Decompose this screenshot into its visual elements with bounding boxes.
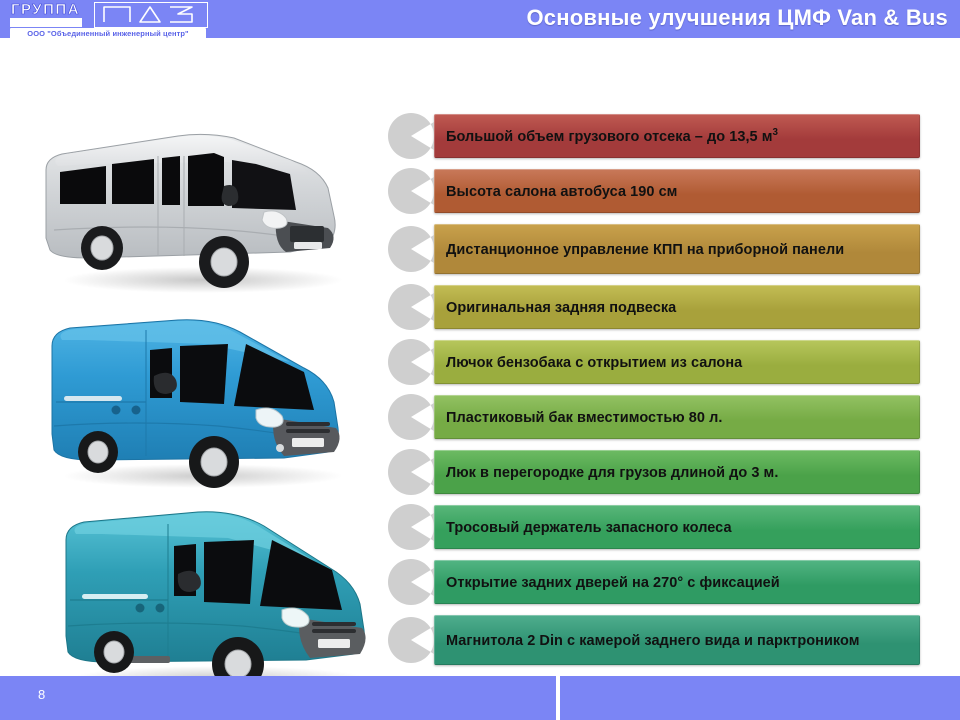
- list-item[interactable]: Лючок бензобака с открытием из салона: [388, 340, 928, 384]
- logo-underbar: [10, 18, 82, 27]
- list-item-label: Пластиковый бак вместимостью 80 л.: [434, 408, 732, 427]
- gaz-mark-icon: [100, 3, 200, 25]
- footer-band-left: [0, 676, 556, 720]
- vehicle-image-minibus-silver: [28, 110, 368, 300]
- list-item[interactable]: Дистанционное управление КПП на приборно…: [388, 224, 928, 274]
- vehicle-image-van-teal: [48, 496, 388, 696]
- improvements-list: Большой объем грузового отсека – до 13,5…: [388, 114, 928, 676]
- list-item-label: Магнитола 2 Din с камерой заднего вида и…: [434, 631, 870, 650]
- list-item[interactable]: Высота салона автобуса 190 см: [388, 169, 928, 213]
- pie-wedge-bullet-icon: [388, 168, 434, 214]
- page-title: Основные улучшения ЦМФ Van & Bus: [527, 5, 949, 31]
- logo-brand-text: ГРУППА: [11, 1, 80, 18]
- list-item[interactable]: Тросовый держатель запасного колеса: [388, 505, 928, 549]
- pie-wedge-bullet-icon: [388, 339, 434, 385]
- pie-wedge-bullet-icon: [388, 284, 434, 330]
- footer-band-right: [560, 676, 960, 720]
- bullet-bar: Открытие задних дверей на 270° с фиксаци…: [434, 560, 920, 604]
- list-item-label: Лючок бензобака с открытием из салона: [434, 353, 752, 372]
- list-item-label: Дистанционное управление КПП на приборно…: [434, 240, 854, 259]
- bullet-bar: Пластиковый бак вместимостью 80 л.: [434, 395, 920, 439]
- company-logo: ГРУППА ООО "Объединенный инженерный цент…: [4, 0, 212, 38]
- pie-wedge-bullet-icon: [388, 226, 434, 272]
- pie-wedge-bullet-icon: [388, 617, 434, 663]
- list-item-label: Люк в перегородке для грузов длиной до 3…: [434, 463, 788, 482]
- bullet-bar: Лючок бензобака с открытием из салона: [434, 340, 920, 384]
- bullet-bar: Высота салона автобуса 190 см: [434, 169, 920, 213]
- slide-body: Большой объем грузового отсека – до 13,5…: [0, 38, 960, 672]
- list-item-label: Высота салона автобуса 190 см: [434, 182, 687, 201]
- list-item[interactable]: Открытие задних дверей на 270° с фиксаци…: [388, 560, 928, 604]
- bullet-bar: Тросовый держатель запасного колеса: [434, 505, 920, 549]
- pie-wedge-bullet-icon: [388, 449, 434, 495]
- bullet-bar: Оригинальная задняя подвеска: [434, 285, 920, 329]
- pie-wedge-bullet-icon: [388, 504, 434, 550]
- bullet-bar: Большой объем грузового отсека – до 13,5…: [434, 114, 920, 158]
- pie-wedge-bullet-icon: [388, 394, 434, 440]
- list-item-label: Оригинальная задняя подвеска: [434, 298, 686, 317]
- list-item[interactable]: Большой объем грузового отсека – до 13,5…: [388, 114, 928, 158]
- list-item-label: Тросовый держатель запасного колеса: [434, 518, 742, 537]
- vehicle-image-van-blue: [28, 310, 368, 495]
- bullet-bar: Дистанционное управление КПП на приборно…: [434, 224, 920, 274]
- list-item[interactable]: Оригинальная задняя подвеска: [388, 285, 928, 329]
- bullet-bar: Магнитола 2 Din с камерой заднего вида и…: [434, 615, 920, 665]
- list-item[interactable]: Магнитола 2 Din с камерой заднего вида и…: [388, 615, 928, 665]
- page-number: 8: [38, 687, 45, 702]
- pie-wedge-bullet-icon: [388, 113, 434, 159]
- pie-wedge-bullet-icon: [388, 559, 434, 605]
- list-item-label: Большой объем грузового отсека – до 13,5…: [434, 127, 788, 146]
- list-item[interactable]: Пластиковый бак вместимостью 80 л.: [388, 395, 928, 439]
- list-item-label: Открытие задних дверей на 270° с фиксаци…: [434, 573, 790, 592]
- list-item[interactable]: Люк в перегородке для грузов длиной до 3…: [388, 450, 928, 494]
- bullet-bar: Люк в перегородке для грузов длиной до 3…: [434, 450, 920, 494]
